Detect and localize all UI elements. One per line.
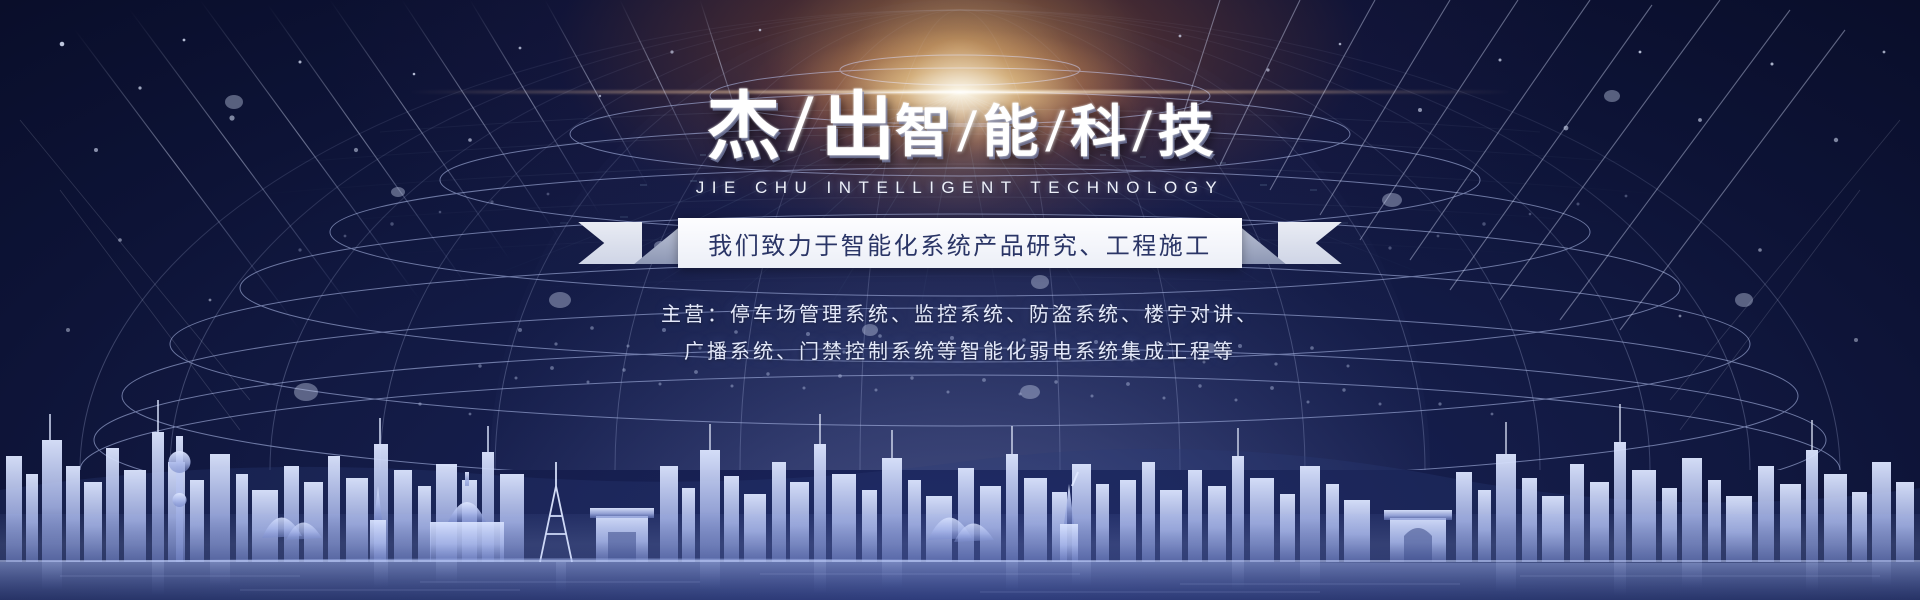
ribbon-body: 我们致力于智能化系统产品研究、工程施工 xyxy=(678,218,1242,268)
ribbon-tail-right xyxy=(1278,222,1342,264)
ribbon-tail-left xyxy=(578,222,642,264)
description-line-1: 主营：停车场管理系统、监控系统、防盗系统、楼宇对讲、 xyxy=(661,296,1259,333)
hero-banner: 杰 / 出 智 / 能 / 科 / 技 JIE CHU INTELLIGENT … xyxy=(0,0,1920,600)
subtitle-english: JIE CHU INTELLIGENT TECHNOLOGY xyxy=(696,178,1225,198)
title-char-ke: 科 xyxy=(1070,105,1126,164)
title-slash-4: / xyxy=(1123,104,1161,164)
title-slash-2: / xyxy=(948,104,986,164)
page-title: 杰 / 出 智 / 能 / 科 / 技 xyxy=(706,88,1213,164)
title-slash-3: / xyxy=(1035,104,1073,164)
title-char-zhi: 智 xyxy=(895,105,951,164)
title-slash-1: / xyxy=(776,88,825,164)
ribbon-slogan: 我们致力于智能化系统产品研究、工程施工 xyxy=(708,226,1212,261)
banner-content: 杰 / 出 智 / 能 / 科 / 技 JIE CHU INTELLIGENT … xyxy=(0,0,1920,600)
business-description: 主营：停车场管理系统、监控系统、防盗系统、楼宇对讲、 广播系统、门禁控制系统等智… xyxy=(661,296,1259,370)
title-char-neng: 能 xyxy=(983,105,1039,164)
description-line-2: 广播系统、门禁控制系统等智能化弱电系统集成工程等 xyxy=(661,333,1259,370)
title-char-ji: 技 xyxy=(1158,105,1214,164)
ribbon-banner: 我们致力于智能化系统产品研究、工程施工 xyxy=(678,218,1242,268)
title-char-jie: 杰 xyxy=(706,90,780,164)
title-char-chu: 出 xyxy=(821,90,895,164)
